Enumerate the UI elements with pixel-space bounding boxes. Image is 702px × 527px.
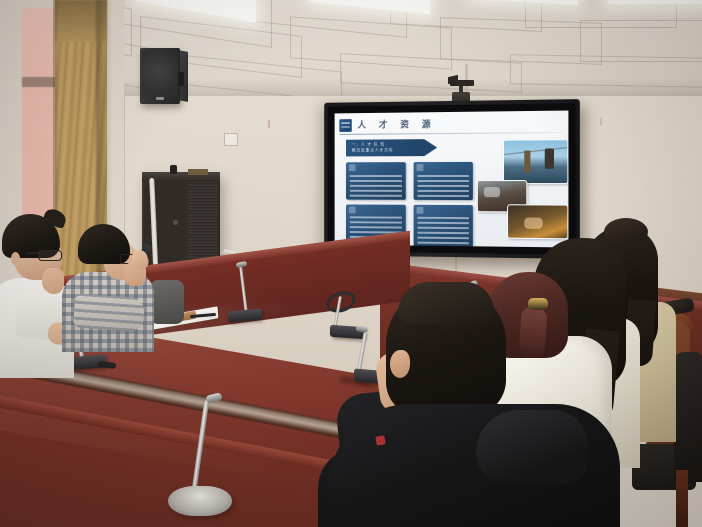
eyeglasses-icon	[38, 250, 62, 261]
wall-mounted-television[interactable]: 人 才 资 源 一、人 才 队 伍 概况及重点人才方向	[324, 99, 580, 259]
speaker-body	[140, 48, 180, 104]
ceiling-light-panel-4	[608, 0, 702, 4]
speaker-mount-bracket	[178, 72, 184, 86]
slide-box-text-lines	[350, 174, 402, 197]
photo-detail	[524, 218, 542, 229]
slide-title: 人 才 资 源	[357, 117, 435, 131]
presentation-slide: 人 才 资 源 一、人 才 队 伍 概况及重点人才方向	[335, 111, 569, 248]
attendee-hair-detail	[398, 282, 494, 324]
attendee-arm	[73, 294, 145, 333]
attendee-ear	[11, 252, 20, 265]
slide-banner-line-2: 概况及重点人才方向	[352, 147, 394, 153]
hair-clip	[528, 298, 548, 310]
wall-mark	[600, 118, 602, 125]
slide-content-box	[346, 162, 406, 200]
wall-mark	[268, 120, 270, 128]
wall-speaker	[140, 48, 190, 106]
slide-content-box	[414, 162, 473, 200]
wooden-conference-chair-2-leg	[676, 470, 688, 527]
rack-handle[interactable]	[173, 220, 178, 225]
slide-box-text-lines	[417, 174, 468, 197]
tv-bezel-inner: 人 才 资 源 一、人 才 队 伍 概况及重点人才方向	[328, 103, 576, 254]
hoodie-hood-fold	[476, 410, 588, 484]
slide-section-banner: 一、人 才 队 伍 概况及重点人才方向	[346, 139, 437, 156]
slide-box-number	[349, 206, 356, 213]
hoodie-brand-tag	[375, 435, 385, 445]
slide-box-number	[417, 164, 424, 171]
slide-box-text-lines	[417, 217, 468, 244]
slide-org-logo-icon	[339, 119, 351, 132]
photo-detail	[524, 151, 530, 173]
photo-detail	[484, 187, 500, 197]
attendee-ponytail	[518, 307, 547, 359]
slide-photo-offshore-rig	[503, 139, 568, 184]
gooseneck-microphone-5-base[interactable]	[168, 486, 232, 516]
slide-title-rule	[339, 132, 562, 135]
attendee-plaid-shirt-torso	[150, 280, 184, 324]
wooden-conference-chair-2-back[interactable]	[674, 352, 702, 482]
rack-antenna-knob[interactable]	[170, 165, 177, 174]
wall-outlet[interactable]	[224, 133, 238, 146]
slide-box-number	[417, 207, 424, 214]
rack-top-object	[188, 169, 208, 175]
attendee-hair-bun	[604, 218, 648, 246]
speaker-logo	[156, 97, 164, 100]
slide-content-box	[414, 205, 473, 247]
attendee-ear	[390, 350, 410, 378]
photo-detail	[504, 147, 567, 155]
attendee-hand	[42, 268, 64, 294]
photo-detail	[545, 148, 554, 168]
slide-box-number	[349, 164, 356, 171]
speaker-grille	[142, 51, 178, 97]
slide-photo-lab-equipment	[507, 204, 568, 239]
meeting-room-photo: 人 才 资 源 一、人 才 队 伍 概况及重点人才方向	[0, 0, 702, 527]
